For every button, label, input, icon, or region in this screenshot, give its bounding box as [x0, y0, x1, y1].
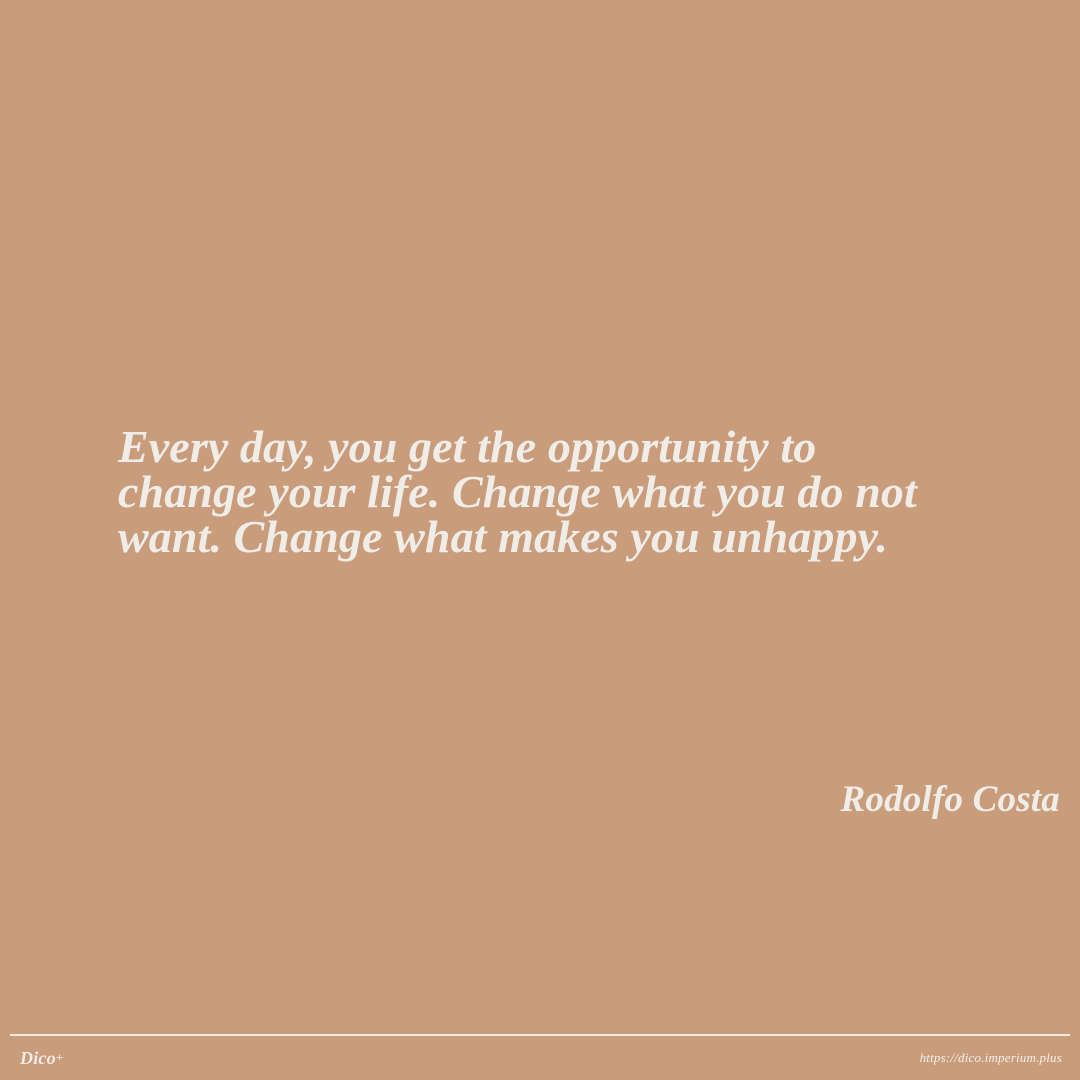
author-name: Rodolfo Costa: [360, 778, 1060, 822]
brand-logo[interactable]: Dico+: [10, 1048, 63, 1069]
quote-block: Every day, you get the opportunity to ch…: [118, 424, 998, 559]
footer-row: Dico+ https://dico.imperium.plus: [10, 1036, 1070, 1080]
footer-url[interactable]: https://dico.imperium.plus: [920, 1050, 1070, 1066]
brand-plus-icon: +: [56, 1050, 64, 1065]
quote-text: Every day, you get the opportunity to ch…: [118, 424, 998, 559]
footer: Dico+ https://dico.imperium.plus: [0, 1034, 1080, 1080]
brand-name: Dico: [20, 1048, 56, 1068]
author-block: Rodolfo Costa: [360, 778, 1060, 822]
quote-card: Every day, you get the opportunity to ch…: [0, 0, 1080, 1080]
